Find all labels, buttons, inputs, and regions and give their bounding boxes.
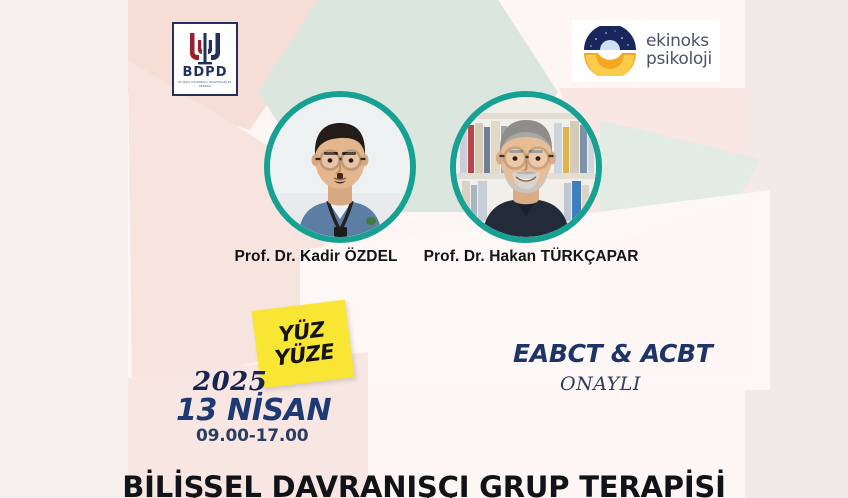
speaker-name-1: Prof. Dr. Kadir ÖZDEL (234, 248, 397, 266)
ekinoks-psikoloji-logo: ekinoks psikoloji (572, 20, 720, 82)
event-date: 13 NİSAN (176, 393, 331, 428)
event-time: 09.00-17.00 (196, 426, 308, 446)
ekinoks-line-2: psikoloji (646, 51, 712, 69)
poster-canvas: BDPD BİLİŞSEL DAVRANIŞÇI PSİKOTERAPİLER … (0, 0, 848, 498)
accreditation-sub: ONAYLI (560, 373, 641, 395)
ekinoks-equinox-icon (582, 26, 638, 76)
speaker-names-row: Prof. Dr. Kadir ÖZDEL Prof. Dr. Hakan TÜ… (128, 248, 745, 266)
sticker-line-2: YÜZE (273, 340, 335, 370)
bdpd-wordmark: BDPD (182, 66, 227, 79)
bdpd-logo: BDPD BİLİŞSEL DAVRANIŞÇI PSİKOTERAPİLER … (172, 22, 238, 96)
bdpd-subtitle: BİLİŞSEL DAVRANIŞÇI PSİKOTERAPİLER DERNE… (176, 81, 234, 88)
bdpd-trident-icon (182, 29, 228, 65)
portrait-hakan-turkcapar (450, 91, 602, 243)
speaker-name-2: Prof. Dr. Hakan TÜRKÇAPAR (424, 248, 639, 266)
page-title: BİLİŞSEL DAVRANIŞÇI GRUP TERAPİSİ (0, 470, 848, 498)
ekinoks-wordmark: ekinoks psikoloji (646, 33, 712, 68)
portrait-kadir-ozdel (264, 91, 416, 243)
background-band-left (0, 0, 128, 498)
accreditation-main: EABCT & ACBT (513, 339, 713, 368)
